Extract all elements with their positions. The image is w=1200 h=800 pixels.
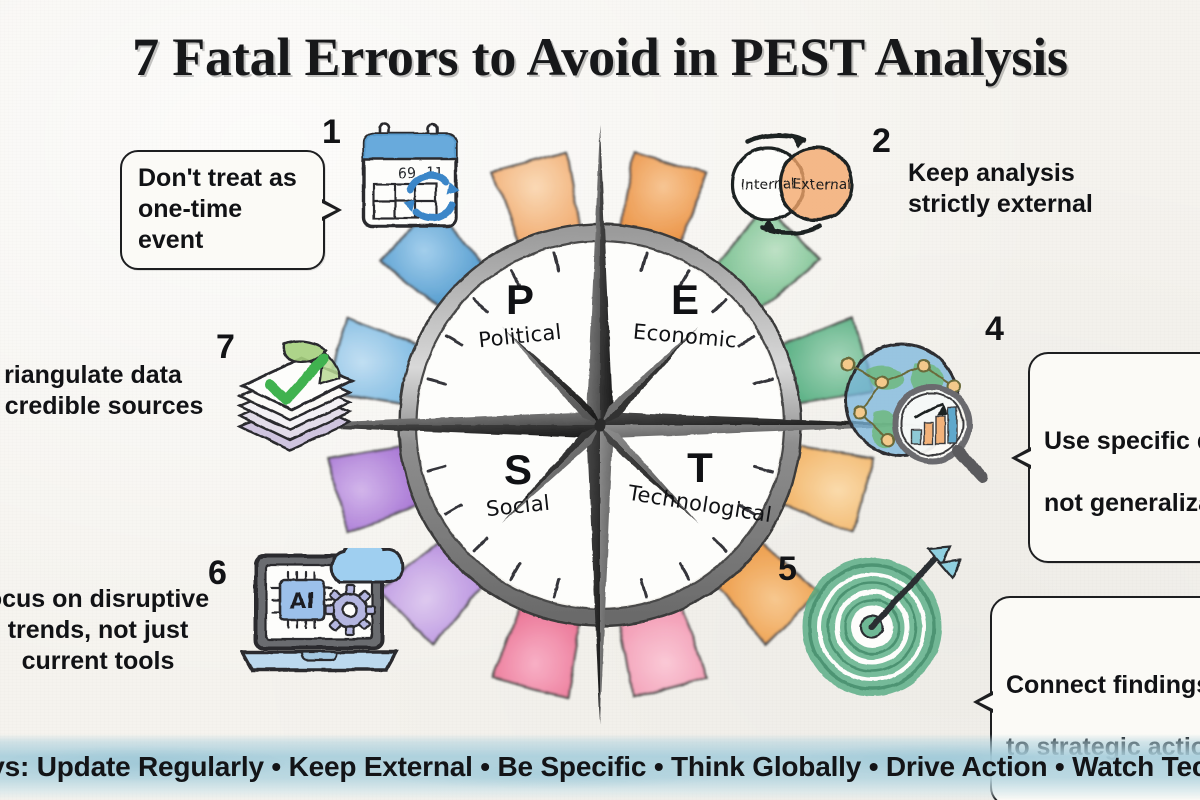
callout-4-line2: not generalizat xyxy=(1044,488,1200,519)
globe-magnifier-chart-icon xyxy=(830,320,1005,485)
bubble-tail-left xyxy=(1011,447,1031,469)
callout-number-1: 1 xyxy=(322,115,341,149)
poster-canvas: 7 Fatal Errors to Avoid in PEST Analysis xyxy=(0,0,1200,800)
takeaway-text: Takeaways: Update Regularly • Keep Exter… xyxy=(0,734,1200,800)
calendar-refresh-icon: 69 11 xyxy=(352,120,472,250)
callout-number-4: 4 xyxy=(985,312,1004,346)
document-stack-check-icon xyxy=(228,330,378,470)
target-arrow-icon xyxy=(800,545,965,700)
page-title: 7 Fatal Errors to Avoid in PEST Analysis xyxy=(0,24,1200,90)
ai-chip-text: AI xyxy=(290,589,314,613)
venn-internal-external-icon: Internal External xyxy=(700,128,880,238)
callout-number-6: 6 xyxy=(208,556,227,590)
callout-7: riangulate data n credible sources xyxy=(0,360,208,422)
callout-number-7: 7 xyxy=(216,330,235,364)
callout-5-line1: Connect findings xyxy=(1006,670,1200,701)
laptop-ai-cloud-gear-icon: AI xyxy=(240,548,420,688)
venn-left-label: Internal xyxy=(741,177,795,193)
callout-2-text: Keep analysis strictly external xyxy=(908,158,1093,220)
callout-4: Use specific d not generalizat xyxy=(1028,352,1200,563)
callout-number-2: 2 xyxy=(872,124,891,158)
takeaway-band: Takeaways: Update Regularly • Keep Exter… xyxy=(0,734,1200,800)
callout-6: ocus on disruptive trends, not just curr… xyxy=(0,584,218,677)
bubble-tail-left xyxy=(973,691,993,713)
callout-1: Don't treat as one-time event xyxy=(120,150,325,270)
callout-6-text: ocus on disruptive trends, not just curr… xyxy=(0,584,218,677)
venn-right-label: External xyxy=(793,177,851,193)
bubble-tail-right xyxy=(322,199,342,221)
callout-2: Keep analysis strictly external xyxy=(908,158,1093,220)
callout-number-5: 5 xyxy=(778,552,797,586)
callout-4-bubble: Use specific d not generalizat xyxy=(1028,352,1200,563)
callout-4-line1: Use specific d xyxy=(1044,426,1200,457)
callout-7-text: riangulate data n credible sources xyxy=(0,360,208,422)
callout-1-bubble: Don't treat as one-time event xyxy=(120,150,325,270)
